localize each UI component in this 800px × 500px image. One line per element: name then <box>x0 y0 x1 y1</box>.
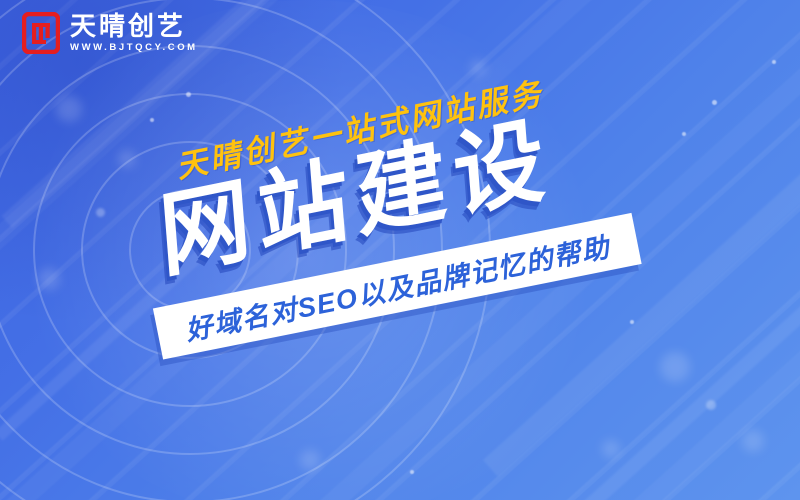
concentric-rings-graphic <box>0 0 500 500</box>
brand-logo[interactable]: 天晴创艺 WWW.BJTQCY.COM <box>22 12 198 54</box>
bokeh-dot <box>706 400 716 410</box>
logo-website-url: WWW.BJTQCY.COM <box>70 42 198 53</box>
bokeh-dot <box>682 132 686 136</box>
bokeh-dot <box>772 60 776 64</box>
bokeh-dot <box>742 430 764 452</box>
logo-brand-name: 天晴创艺 <box>70 13 198 40</box>
logo-text-block: 天晴创艺 WWW.BJTQCY.COM <box>70 13 198 53</box>
bokeh-dot <box>660 352 690 382</box>
bokeh-dot <box>630 320 634 324</box>
bokeh-dot <box>712 100 717 105</box>
light-streak <box>564 265 800 500</box>
tqcy-square-logo-icon <box>22 12 60 54</box>
promo-banner: 天晴创艺 WWW.BJTQCY.COM 天晴创艺一站式网站服务 网站建设 好域名… <box>0 0 800 500</box>
bokeh-dot <box>602 440 620 458</box>
light-streak <box>483 146 800 477</box>
